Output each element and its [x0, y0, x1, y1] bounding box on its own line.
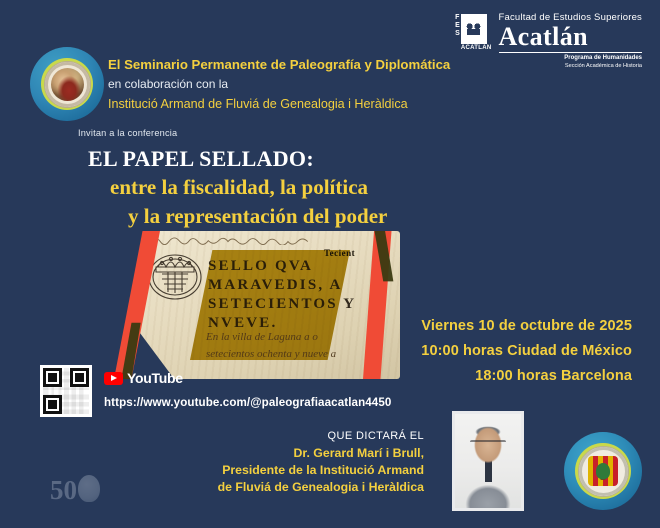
speaker-portrait — [452, 411, 524, 511]
qr-finder-top-left — [43, 368, 62, 387]
iafgh-emblem-logo — [564, 432, 642, 510]
anniversary-number: 50 — [50, 478, 77, 502]
organizer-collab-label: en colaboración con la — [108, 74, 468, 94]
organizer-header: El Seminario Permanente de Paleografía y… — [108, 55, 468, 114]
fes-acatlan-logo: F E S ACATLAN Facultad de Estudios Super… — [455, 12, 642, 70]
document-stamp-text: SELLO QVA MARAVEDIS, A SETECIENTOS Y NVE… — [208, 257, 368, 333]
royal-crown-stamp — [144, 245, 206, 303]
seal-microtext-ring — [45, 62, 90, 107]
fes-letter-f: F — [455, 14, 460, 21]
fes-letter-s: S — [455, 30, 460, 37]
stamp-text-line-1: SELLO QVA — [208, 257, 368, 276]
speaker-name: Dr. Gerard Marí i Brull, — [196, 445, 424, 462]
fes-shield-stack: ACATLAN — [461, 14, 492, 51]
youtube-play-icon — [104, 372, 123, 385]
qr-finder-top-right — [70, 368, 89, 387]
qr-finder-bottom-left — [43, 395, 62, 414]
speaker-intro-label: QUE DICTARÁ EL — [196, 428, 424, 445]
unam-glyph — [464, 19, 483, 40]
stamp-text-line-2: MARAVEDIS, A — [208, 276, 368, 295]
anniversary-watermark: 50 — [50, 468, 102, 502]
title-line-1: EL PAPEL SELLADO: — [88, 145, 488, 173]
fes-mark-tag: ACATLAN — [461, 45, 492, 51]
emblem-inner-disc — [578, 446, 629, 497]
event-time-mexico: 10:00 horas Ciudad de México — [421, 339, 632, 364]
qr-code-image — [43, 368, 89, 414]
event-date: Viernes 10 de octubre de 2025 — [421, 314, 632, 339]
fes-divider — [499, 52, 643, 53]
seal-lime-ring — [41, 58, 93, 110]
cursive-line-1: En la villa de Laguna a o — [206, 329, 396, 346]
qr-code[interactable] — [40, 365, 92, 417]
unam-shield-icon: F E S ACATLAN — [455, 12, 491, 51]
fes-initials: F E S — [455, 14, 460, 51]
organizer-seminar-name: El Seminario Permanente de Paleografía y… — [108, 55, 468, 74]
cursive-line-2: setecientos ochenta y nueve a — [206, 346, 396, 363]
emblem-lime-ring — [575, 443, 631, 499]
fes-section-line: Sección Académica de Historia — [499, 63, 643, 71]
event-time-barcelona: 18:00 horas Barcelona — [421, 364, 632, 389]
invitation-kicker: Invitan a la conferencia — [78, 128, 177, 138]
youtube-channel-url[interactable]: https://www.youtube.com/@paleografiaacat… — [104, 396, 391, 409]
organizer-partner-name: Institució Armand de Fluviá de Genealogi… — [108, 94, 468, 114]
unam-eagle-condor-shield — [461, 14, 487, 44]
speaker-photo — [455, 414, 521, 508]
fes-wordmark: Facultad de Estudios Superiores Acatlán … — [499, 12, 643, 70]
document-handwriting-top — [150, 233, 347, 245]
youtube-wordmark: YouTube — [127, 370, 183, 386]
fes-program-line: Programa de Humanidades — [499, 55, 643, 63]
title-line-3: y la representación del poder — [88, 202, 488, 231]
catalan-coat-of-arms-icon — [588, 456, 618, 486]
speaker-role-line-2: de Fluviá de Genealogia i Heràldica — [196, 479, 424, 496]
title-line-2: entre la fiscalidad, la política — [88, 173, 488, 202]
event-datetime: Viernes 10 de octubre de 2025 10:00 hora… — [421, 314, 632, 389]
anniversary-emblem-shape — [78, 475, 100, 502]
stamped-paper-illustration: Tecient SELLO QVA MARAVEDIS, A SETECIENT… — [128, 231, 400, 379]
document-cursive-text: En la villa de Laguna a o setecientos oc… — [206, 329, 396, 363]
page-title: EL PAPEL SELLADO: entre la fiscalidad, l… — [88, 145, 488, 231]
conference-poster: F E S ACATLAN Facultad de Estudios Super… — [0, 0, 660, 528]
fes-letter-e: E — [455, 22, 460, 29]
youtube-logo[interactable]: YouTube — [104, 370, 183, 386]
seminar-seal-logo — [30, 47, 104, 121]
fes-acatlan-name: Acatlán — [499, 23, 643, 50]
speaker-role-line-1: Presidente de la Institució Armand — [196, 462, 424, 479]
stamp-text-line-3: SETECIENTOS Y — [208, 295, 368, 314]
speaker-info: QUE DICTARÁ EL Dr. Gerard Marí i Brull, … — [196, 428, 424, 496]
seal-inner-disc — [44, 61, 91, 108]
